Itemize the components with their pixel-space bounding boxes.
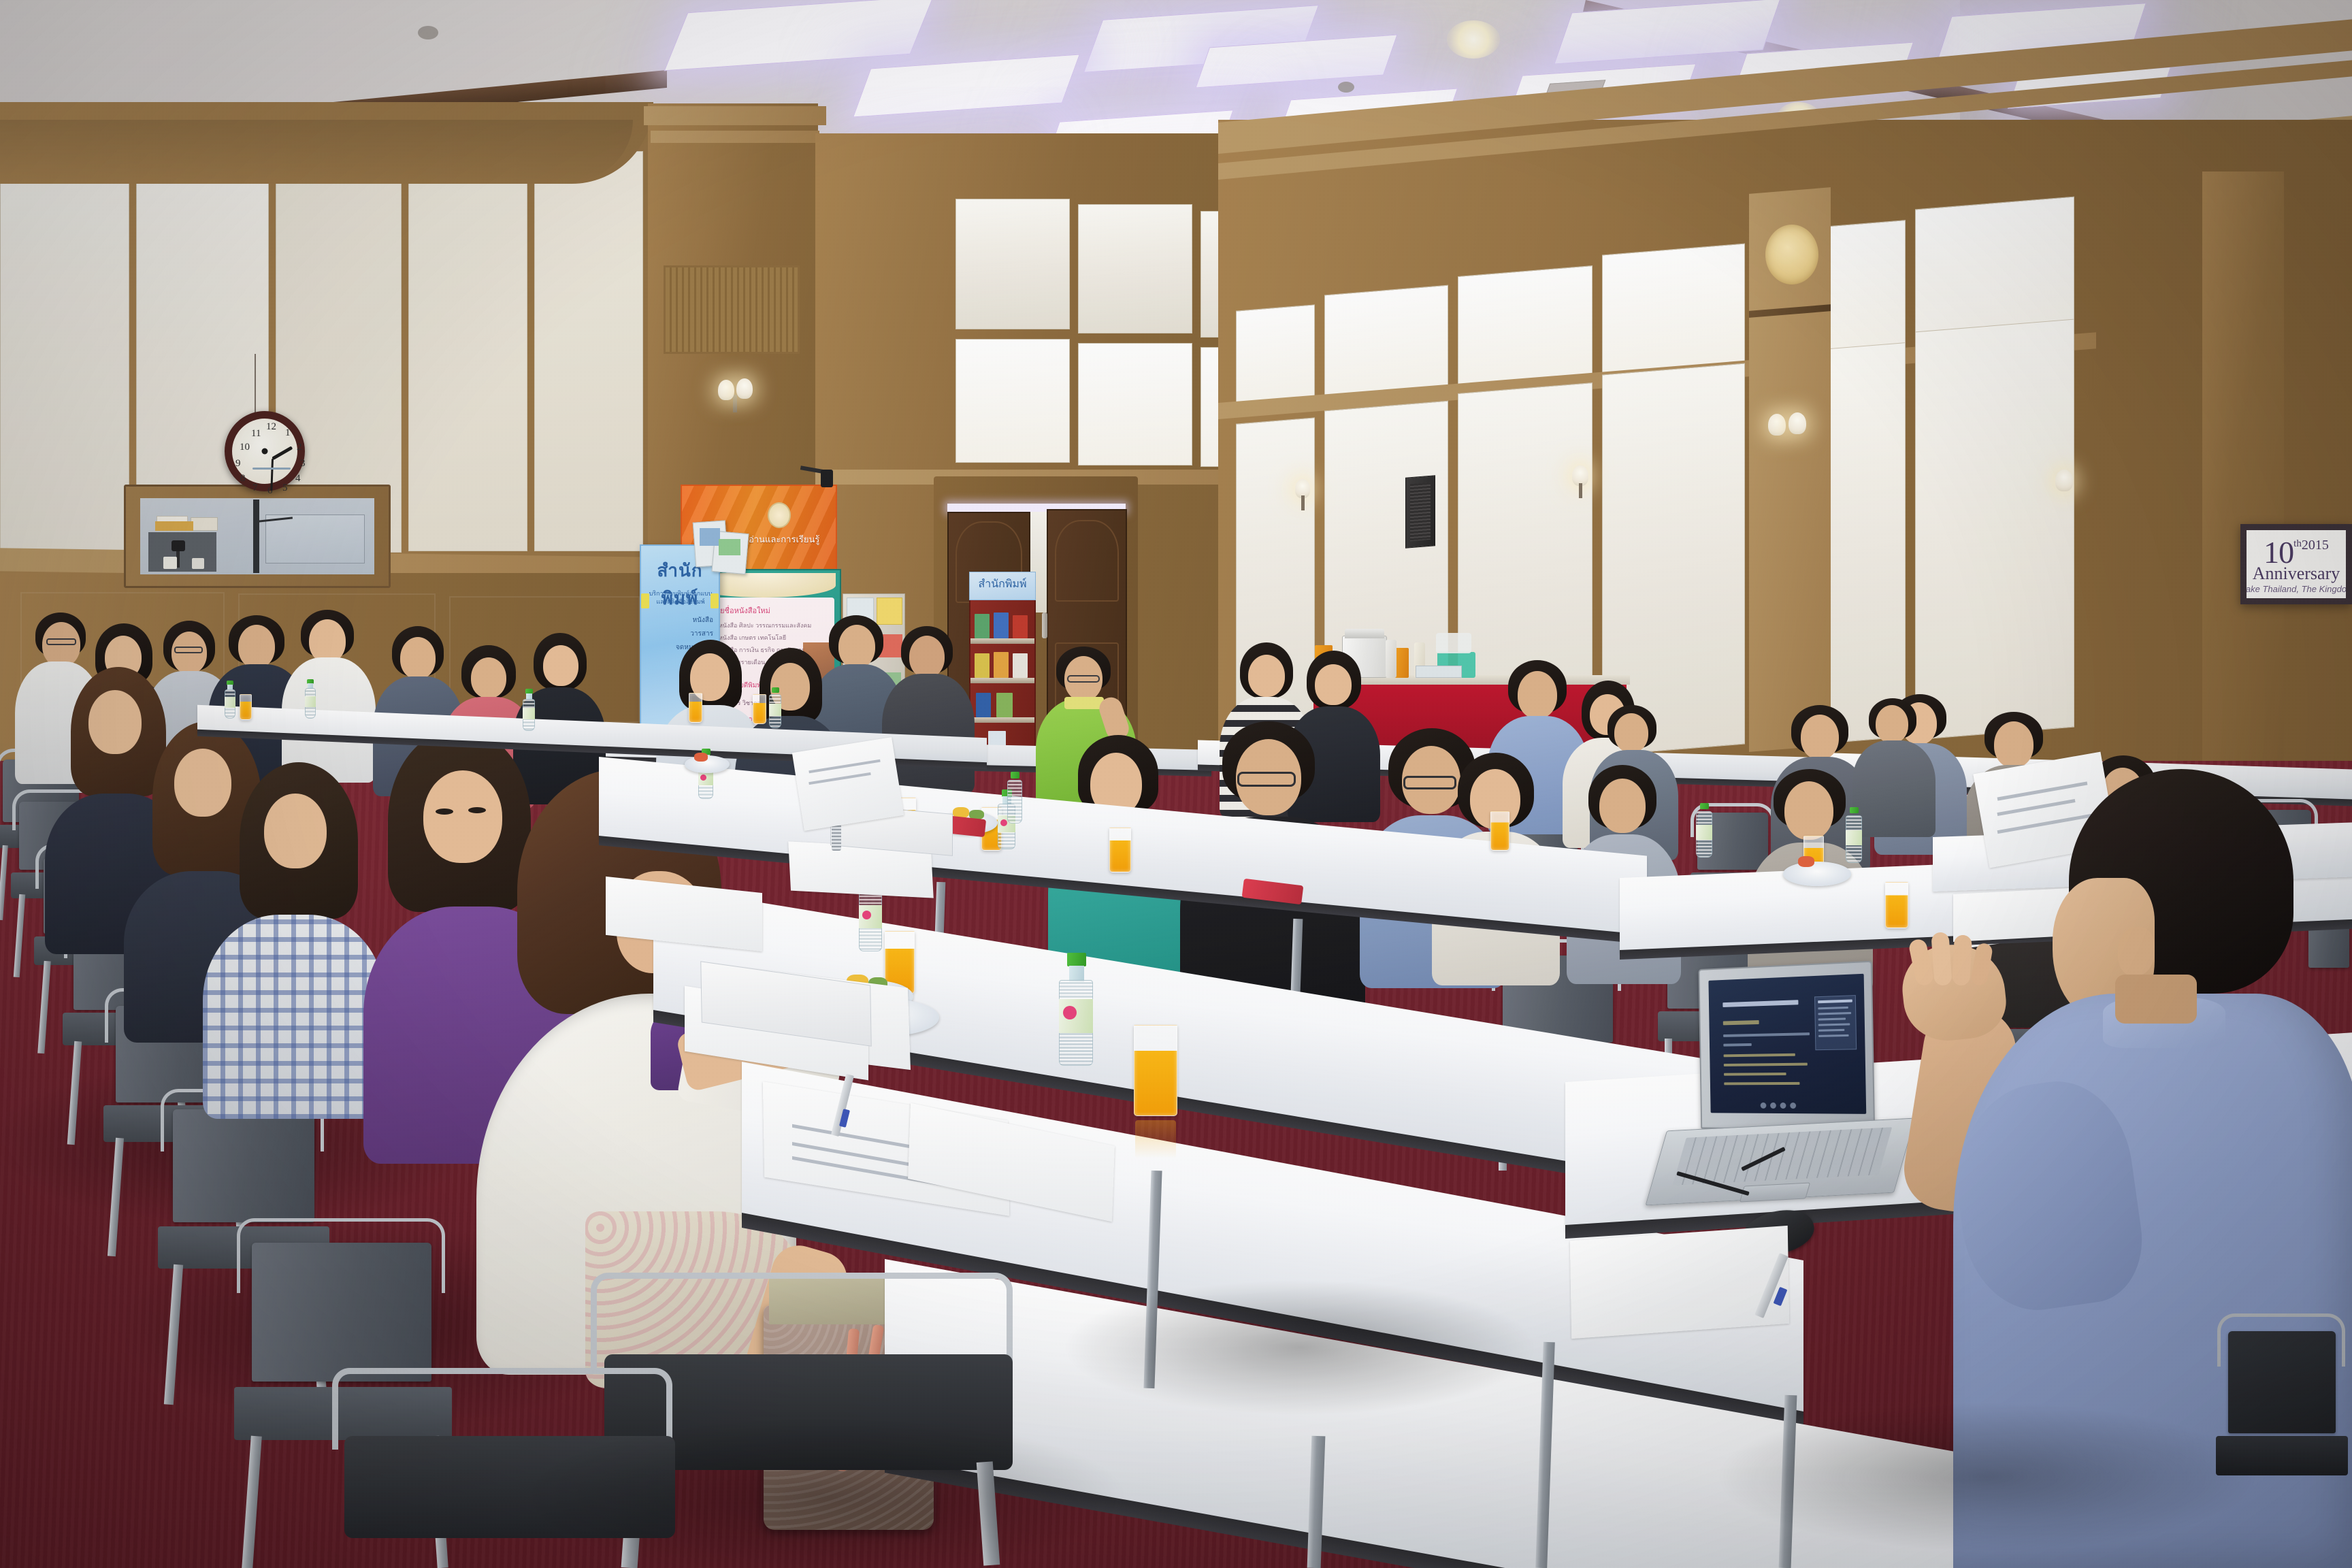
eyeglasses <box>1067 675 1100 683</box>
clock-numeral: 4 <box>295 473 301 485</box>
bookstand-shelf <box>970 638 1034 644</box>
wall-sconce-light <box>736 378 753 399</box>
laptop-screen[interactable] <box>1708 974 1866 1114</box>
eye <box>436 808 453 815</box>
taskbar-icon[interactable] <box>1780 1102 1786 1109</box>
banner-tab-right <box>710 593 719 608</box>
fruit-plate <box>1783 862 1851 886</box>
poster-card-image <box>719 539 740 555</box>
juice-reflection <box>1135 1120 1176 1158</box>
book-cover <box>994 612 1009 638</box>
food-item <box>694 753 708 762</box>
water-bottle[interactable] <box>305 679 316 719</box>
booth-divider <box>253 500 259 573</box>
clock-numeral: 1 <box>285 427 291 439</box>
juice-glass[interactable] <box>1109 828 1131 872</box>
slide-bullet <box>1723 1043 1751 1047</box>
smoke-detector <box>418 26 438 39</box>
coffee-urn-lid <box>1345 629 1384 638</box>
eyeglasses <box>1237 772 1296 787</box>
wall-panel <box>1078 204 1192 333</box>
eyeglasses <box>174 647 203 653</box>
juice-glass[interactable] <box>1490 811 1509 851</box>
tray <box>1416 666 1462 678</box>
booth-right-glass <box>265 514 365 563</box>
wall-panel <box>0 120 129 555</box>
neck <box>2115 975 2197 1024</box>
book-cover <box>996 693 1013 717</box>
finger <box>1952 934 1972 985</box>
blue-banner-subtitle: บริการงานพิมพ์ออกแบบ และผลิตสื่อสิ่งพิมพ… <box>645 589 716 607</box>
food-item <box>1798 856 1814 867</box>
plaque-year: 2015 <box>2302 538 2329 553</box>
juice-glass[interactable] <box>753 694 766 724</box>
booth-camera <box>171 540 185 551</box>
clock-numeral: 7 <box>252 483 258 494</box>
water-bottle[interactable] <box>1007 772 1022 823</box>
clock-minute-hand <box>270 459 274 491</box>
juice-glass[interactable] <box>689 693 702 723</box>
clock-numeral: 5 <box>282 483 288 494</box>
water-bottle[interactable] <box>1846 807 1862 863</box>
plaque-anniversary-word: Anniversary <box>2253 563 2340 584</box>
floor-shadow <box>517 1416 1130 1568</box>
clock-numeral: 3 <box>300 458 306 470</box>
taskbar-icon[interactable] <box>1761 1102 1767 1109</box>
wall-sconce-light <box>2055 470 2073 491</box>
clock-numeral: 8 <box>240 473 246 485</box>
book-cover <box>1013 653 1028 678</box>
wall-sconce-arm <box>733 395 737 412</box>
column-cornice-lower <box>651 131 819 143</box>
speaker-grille <box>1410 483 1431 541</box>
column-reed-panel <box>664 265 800 354</box>
booth-document-box <box>191 517 218 531</box>
taskbar-icon[interactable] <box>1790 1102 1796 1109</box>
clock-numeral: 9 <box>235 458 241 470</box>
poster-card-image <box>700 528 720 546</box>
wall-sconce-light <box>718 380 734 400</box>
clock-numeral: 11 <box>251 428 261 440</box>
booth-white-cup <box>163 557 177 569</box>
orange-banner-emblem <box>768 502 791 528</box>
slide-title <box>1722 1000 1798 1007</box>
juice-glass[interactable] <box>1134 1025 1177 1116</box>
column-cornice <box>644 106 826 125</box>
book-cover <box>1013 615 1028 638</box>
clock-center-pin <box>262 448 268 455</box>
finger <box>1931 932 1952 986</box>
juice-glass[interactable] <box>240 694 252 720</box>
slide-bullet <box>1724 1063 1808 1066</box>
wall-sconce-light <box>1788 412 1806 434</box>
clock-hanging-cord <box>255 354 256 415</box>
gold-seal-medallion <box>1765 225 1818 284</box>
slide-side-panel <box>1814 995 1857 1050</box>
water-bottle[interactable] <box>1696 803 1712 857</box>
wall-panel <box>955 339 1070 463</box>
floor-shadow <box>1062 1279 1538 1416</box>
creamer-bottle <box>1386 640 1396 678</box>
floor-shadow <box>1715 1402 2259 1552</box>
taskbar-icon[interactable] <box>1770 1102 1776 1109</box>
clock-hour-hand <box>272 446 293 460</box>
conference-room-photo: 12 1 2 3 4 5 6 7 8 9 10 11 <box>0 0 2352 1568</box>
booth-equipment-rack <box>148 532 216 572</box>
banner-tab-left <box>641 593 649 608</box>
blue-banner-menu-item: วารสาร <box>655 629 713 637</box>
wall-panel <box>534 151 643 551</box>
laptop-lid <box>1698 961 1875 1131</box>
water-bottle[interactable] <box>523 689 535 731</box>
slide-bullet <box>1723 1032 1810 1037</box>
wall-sconce-arm <box>1301 495 1305 510</box>
clock-brand-text <box>252 468 291 470</box>
slide-bullet <box>1724 1073 1786 1076</box>
plaque-subtitle: Make Thailand, The Kingdom <box>2240 584 2352 594</box>
ceiling-downlight <box>1447 20 1500 59</box>
anniversary-plaque: 10 th 2015 Anniversary Make Thailand, Th… <box>2240 524 2352 604</box>
slide-subtitle <box>1723 1020 1759 1025</box>
slide-bullet <box>1724 1053 1795 1058</box>
clock-numeral: 12 <box>266 421 276 433</box>
water-bottle[interactable] <box>225 681 235 719</box>
clock-face: 12 1 2 3 4 5 6 7 8 9 10 11 <box>225 411 305 491</box>
wall-panel <box>955 199 1070 329</box>
ear <box>2118 927 2155 976</box>
door-handle[interactable] <box>1042 612 1047 638</box>
slide-bullet <box>1724 1082 1799 1085</box>
napkin-pack <box>1436 633 1471 653</box>
wall-panel <box>1078 343 1192 465</box>
wall-clock: 12 1 2 3 4 5 6 7 8 9 10 11 <box>225 411 305 491</box>
eyeglasses <box>46 638 76 645</box>
clock-numeral: 10 <box>240 442 250 453</box>
poster-bullet: หนังสือ ศิลปะ วรรณกรรมและสังคม <box>719 621 814 628</box>
wall-panel <box>408 142 527 551</box>
wall-pillar-right <box>2202 171 2284 784</box>
wall-arch-shadow <box>0 120 633 181</box>
book-cover <box>994 652 1009 678</box>
banner-clamp <box>821 470 833 487</box>
smoke-detector <box>1338 82 1354 93</box>
poster-heading: รายชื่อหนังสือใหม่ <box>712 604 814 614</box>
bookstand-shelf <box>970 717 1034 723</box>
notepad-paper[interactable] <box>1570 1226 1789 1339</box>
clock-numeral: 2 <box>297 442 302 453</box>
plaque-superscript: th <box>2293 538 2302 550</box>
blue-banner-menu-item: หนังสือ <box>655 615 713 623</box>
polo-collar <box>1064 697 1104 709</box>
wall-panel <box>1915 319 2074 740</box>
booth-white-cup <box>192 558 204 569</box>
water-bottle[interactable] <box>769 687 781 728</box>
water-bottle[interactable] <box>1059 953 1093 1066</box>
wall-sconce-arm <box>1579 483 1582 498</box>
booth-folder <box>155 521 193 531</box>
wall-sconce-light <box>1768 414 1786 436</box>
bookstand-shelf <box>970 678 1034 683</box>
door-panel-inset <box>1055 520 1119 602</box>
bookstand-header-title: สำนักพิมพ์ <box>970 576 1034 589</box>
